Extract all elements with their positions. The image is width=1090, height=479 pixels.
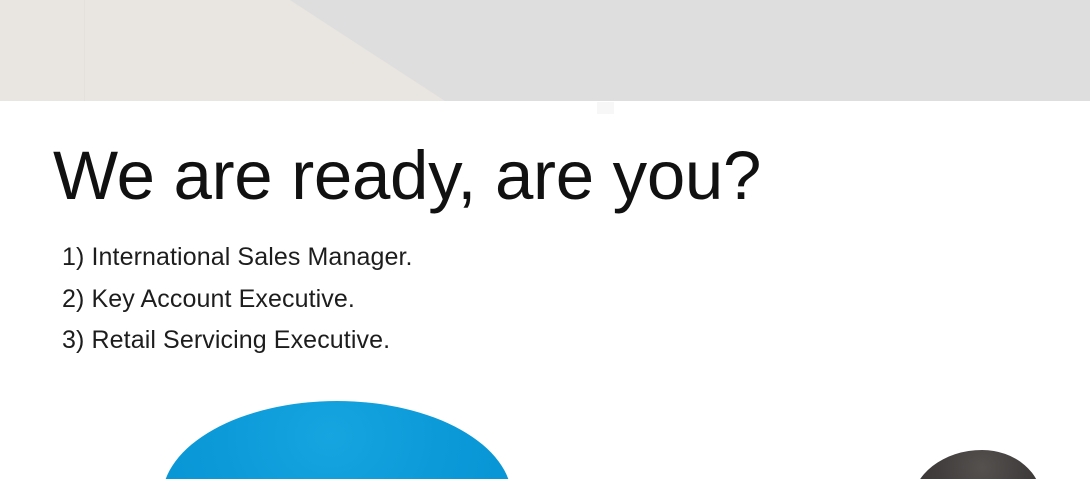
list-item-label: International Sales Manager. bbox=[91, 243, 412, 271]
banner-seam-divider bbox=[84, 0, 85, 101]
slide-canvas: We are ready, are you? 1) International … bbox=[0, 0, 1090, 479]
dark-blob-decoration bbox=[912, 450, 1042, 479]
list-item-marker: 1) bbox=[62, 243, 91, 271]
list-item: 3) Retail Servicing Executive. bbox=[62, 320, 413, 362]
list-item-label: Retail Servicing Executive. bbox=[91, 326, 390, 354]
list-item: 1) International Sales Manager. bbox=[62, 237, 413, 279]
list-item: 2) Key Account Executive. bbox=[62, 279, 413, 321]
list-item-marker: 3) bbox=[62, 326, 91, 354]
list-item-label: Key Account Executive. bbox=[91, 285, 354, 313]
job-role-list: 1) International Sales Manager. 2) Key A… bbox=[62, 237, 413, 362]
list-item-marker: 2) bbox=[62, 285, 91, 313]
header-banner bbox=[0, 0, 1090, 101]
banner-light-artifact bbox=[597, 102, 614, 114]
page-title: We are ready, are you? bbox=[53, 135, 761, 217]
blue-ellipse-decoration bbox=[162, 401, 512, 479]
